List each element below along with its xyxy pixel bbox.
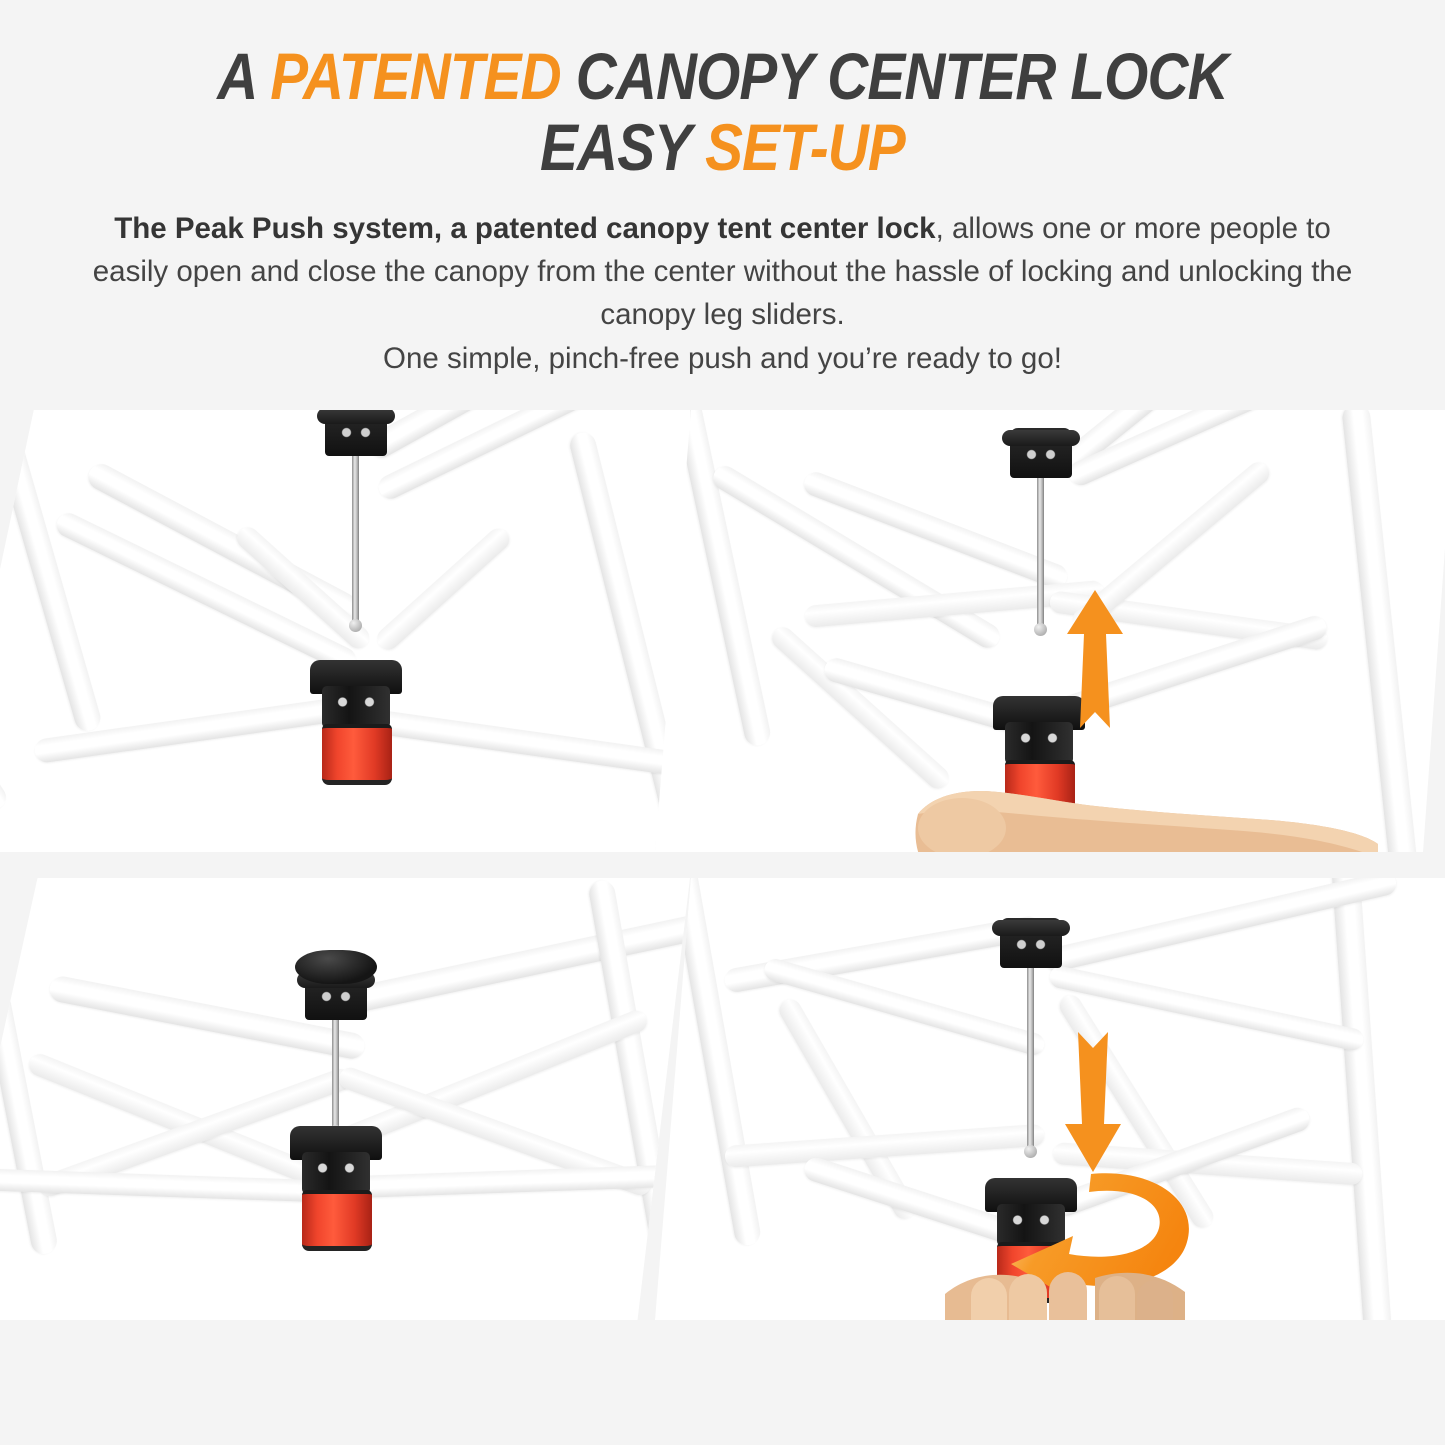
headline-line-2: EASY SET-UP [101,115,1344,180]
finger [971,1278,1007,1320]
panel-grid [0,400,1445,1400]
canopy-frame-locked [0,878,690,1320]
red-collar [302,1190,372,1251]
frame-tube [347,911,690,1013]
panel-top-right[interactable] [655,410,1445,852]
peak-bracket-cap [295,950,377,984]
canopy-frame-collapsed [0,410,690,852]
panel-bottom-right[interactable] [655,878,1445,1320]
frame-leg-tube [1331,878,1393,1320]
body-copy: The Peak Push system, a patented canopy … [88,207,1358,379]
finger [1137,1280,1173,1320]
frame-tube [801,469,1071,592]
frame-tube [373,524,514,654]
body-lead: The Peak Push system, a patented canopy … [114,212,935,245]
steel-rod [1037,468,1044,628]
hub-bracket-body [322,686,390,728]
steel-rod [332,1012,339,1130]
finger [1049,1272,1087,1320]
finger [1099,1276,1135,1320]
panel-bottom-left[interactable] [0,878,690,1320]
two-hands [945,1248,1245,1320]
frame-leg-tube [0,410,103,734]
peak-bracket [325,410,387,456]
canopy-frame-closing [655,878,1445,1320]
peak-bracket [1010,428,1072,478]
body-closing: One simple, pinch-free push and you’re r… [88,337,1358,380]
headline-part-easy: EASY [540,110,705,184]
peak-bracket [1000,918,1062,968]
hub-bracket-body [1005,722,1073,764]
red-collar [322,724,392,785]
headline-part-canopy-center-lock: CANOPY CENTER LOCK [561,39,1228,113]
steel-rod [352,444,359,624]
header: A PATENTED CANOPY CENTER LOCK EASY SET-U… [0,0,1445,380]
frame-tube [0,651,11,814]
open-palm-hand [910,762,1380,852]
headline-line-1: A PATENTED CANOPY CENTER LOCK [101,44,1344,109]
down-arrow-icon [1063,1014,1123,1179]
panel-top-left[interactable] [0,410,690,852]
headline-part-a: A [217,39,270,113]
canopy-frame-opening [655,410,1445,852]
headline-part-patented: PATENTED [270,39,561,113]
steel-rod [1027,960,1034,1150]
up-arrow-icon [1065,588,1125,743]
finger [1009,1274,1047,1320]
headline-part-setup: SET-UP [705,110,905,184]
hub-bracket-body [302,1152,370,1194]
frame-leg-tube [672,410,772,748]
